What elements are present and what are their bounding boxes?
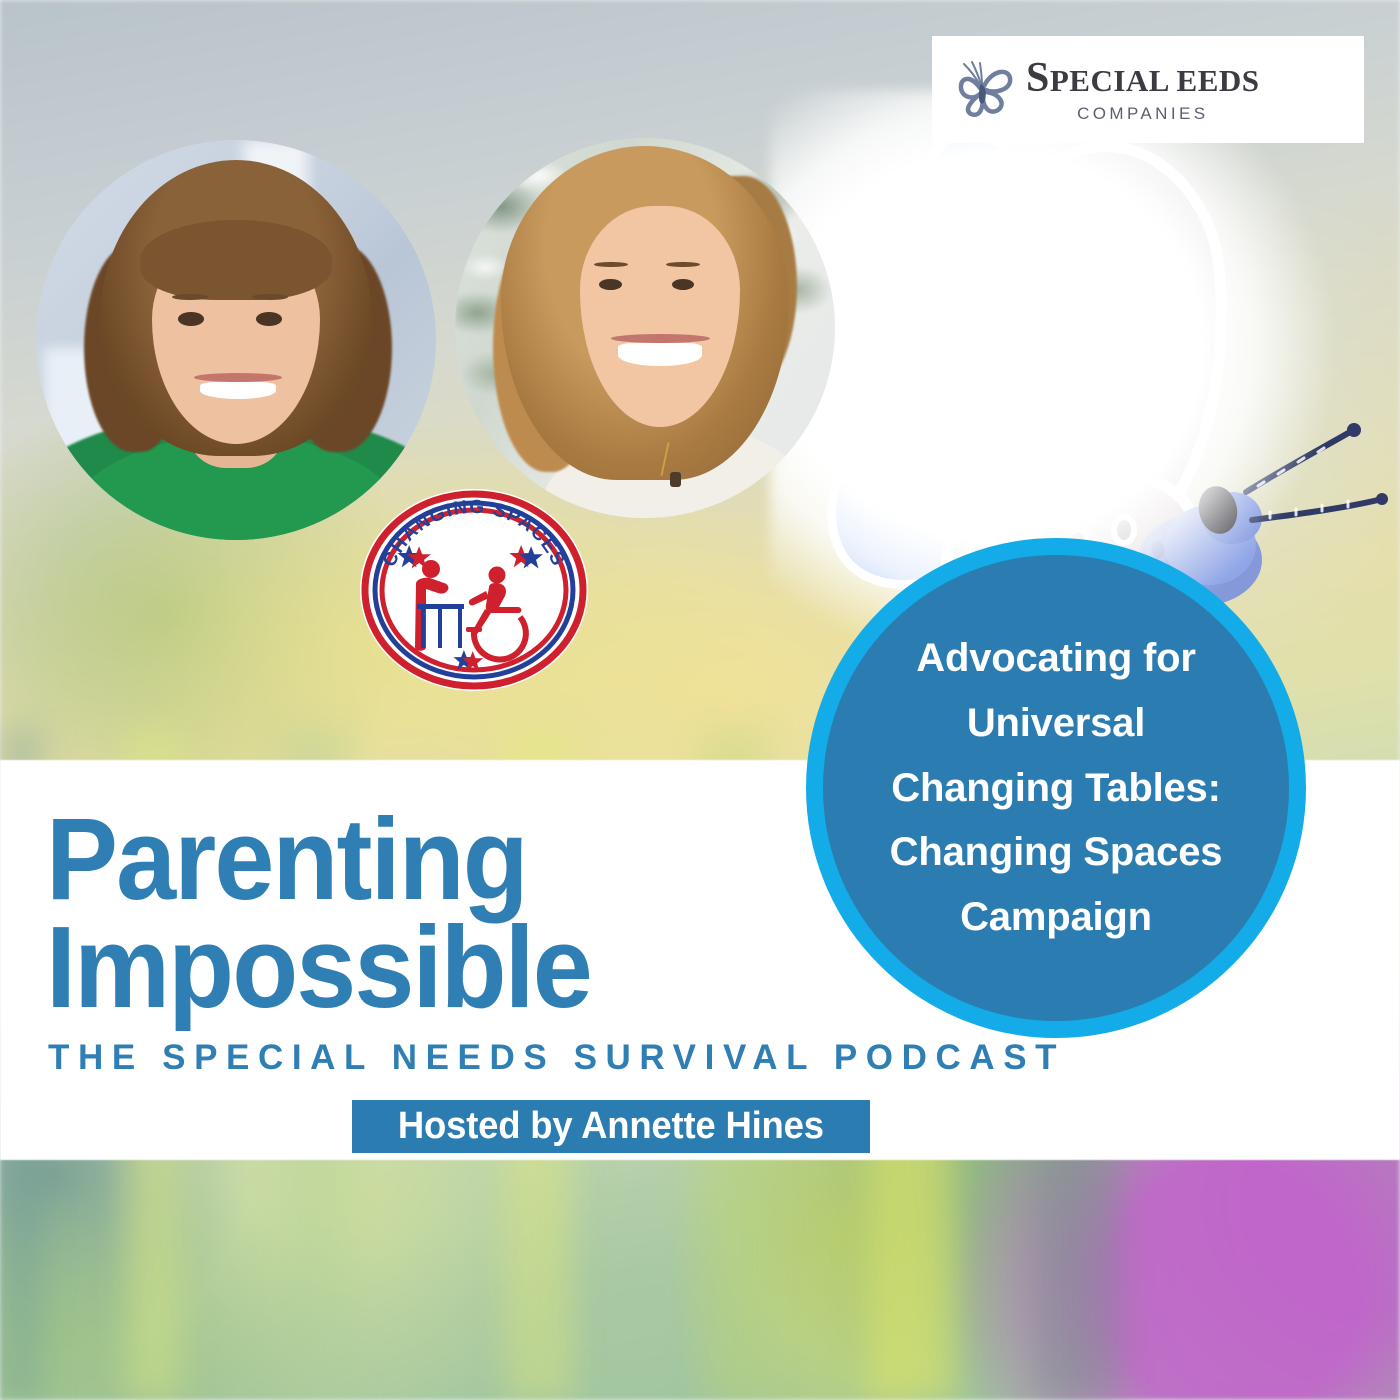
- logo-name-smallcaps-1: PECIAL EEDS: [1050, 63, 1260, 98]
- avatar-eyebrow-right: [666, 262, 700, 268]
- episode-title-circle: Advocating for Universal Changing Tables…: [806, 538, 1306, 1038]
- episode-title-text: Advocating for Universal Changing Tables…: [861, 626, 1251, 950]
- butterfly-icon: [954, 58, 1016, 122]
- podcast-cover-art: SPECIAL EEDS COMPANIES: [0, 0, 1400, 1400]
- show-tagline: THE SPECIAL NEEDS SURVIVAL PODCAST: [48, 1038, 1065, 1078]
- avatar: [36, 140, 436, 540]
- avatar-bangs: [140, 220, 332, 300]
- episode-title-line-5: Campaign: [861, 885, 1251, 950]
- changing-spaces-badge: CHANGING SPACES: [358, 487, 590, 693]
- avatar-eye-left: [178, 312, 204, 326]
- logo-company-name: SPECIAL EEDS: [1026, 57, 1260, 99]
- show-title-line-2: Impossible: [46, 914, 753, 1022]
- episode-title-line-2: Universal: [861, 691, 1251, 756]
- show-title-line-1: Parenting: [46, 806, 753, 914]
- avatar-smile: [200, 382, 276, 399]
- avatar-eye-right: [256, 312, 282, 326]
- episode-title-line-4: Changing Spaces: [861, 820, 1251, 885]
- episode-title-line-3: Changing Tables:: [861, 756, 1251, 821]
- avatar-eye-left: [599, 279, 622, 290]
- avatar-smile: [618, 343, 702, 366]
- page-title: Parenting Impossible: [46, 806, 753, 1022]
- avatar-upper-lip: [194, 373, 282, 382]
- logo-company-subtitle: COMPANIES: [1026, 105, 1260, 122]
- avatar: [455, 138, 835, 518]
- host-credit-text: Hosted by Annette Hines: [398, 1105, 824, 1148]
- avatar-eye-right: [672, 279, 695, 290]
- episode-title-line-1: Advocating for: [861, 626, 1251, 691]
- host-credit-badge: Hosted by Annette Hines: [352, 1100, 870, 1153]
- special-needs-companies-logo: SPECIAL EEDS COMPANIES: [932, 36, 1364, 143]
- changing-spaces-badge-icon: CHANGING SPACES: [358, 487, 590, 693]
- avatar-upper-lip: [611, 334, 710, 343]
- avatar-eyebrow-left: [594, 262, 628, 268]
- avatar-necklace-pendant: [670, 472, 681, 487]
